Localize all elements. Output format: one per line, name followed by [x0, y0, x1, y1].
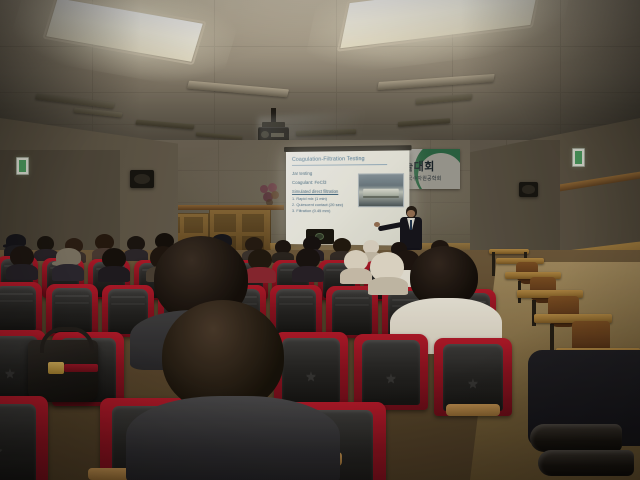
attendee [6, 246, 38, 276]
exit-sign-right [572, 148, 585, 167]
attendee [52, 248, 84, 278]
attendee-foreground-nearest [134, 300, 324, 480]
dress-shoe [538, 450, 634, 476]
lecture-hall-photo: 술대회 한국수자원공학회 Coa [0, 0, 640, 480]
theater-seat[interactable]: ★ [0, 396, 48, 480]
wall-ornament [258, 183, 282, 207]
handbag-clasp [48, 362, 64, 374]
theater-seat[interactable] [0, 282, 42, 334]
handbag[interactable] [28, 340, 98, 402]
exit-sign-left [16, 157, 29, 175]
cap [56, 248, 81, 265]
seated-person-legs [470, 350, 640, 480]
seat-star-emblem: ★ [4, 366, 16, 379]
attendee [292, 248, 324, 278]
handbag-strap [64, 364, 98, 372]
speaker-left [130, 170, 154, 188]
seat-star-emblem: ★ [0, 441, 4, 463]
ceiling-side-shading [0, 0, 640, 152]
attendee-foreground-right [404, 246, 486, 342]
attendee-white-cap [368, 252, 408, 292]
attendee [98, 248, 130, 278]
speaker-right [519, 182, 538, 197]
dress-shoe [530, 424, 622, 452]
seat-star-emblem: ★ [385, 372, 397, 385]
